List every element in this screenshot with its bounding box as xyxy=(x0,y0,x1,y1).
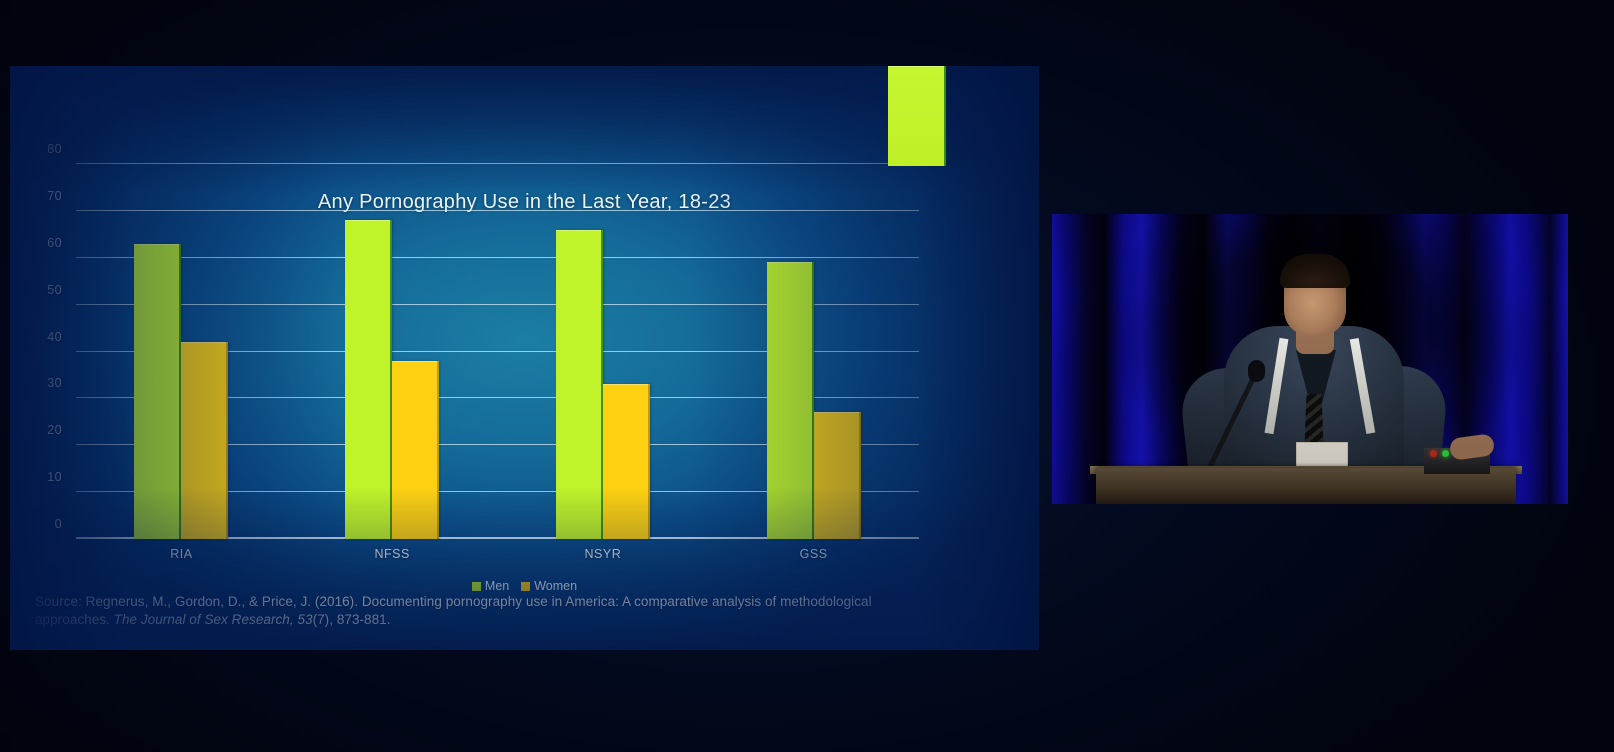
y-axis-tick-label: 50 xyxy=(2,283,76,297)
legend-swatch-women xyxy=(521,582,530,591)
x-axis-label-nsyr: NSYR xyxy=(498,547,709,561)
x-axis-label-nfss: NFSS xyxy=(287,547,498,561)
bar-group: RIA xyxy=(76,164,287,539)
bar-nsyr-women xyxy=(603,384,650,539)
bar-gss-men xyxy=(767,262,814,539)
legend-item-men: Men xyxy=(472,579,509,593)
bar-nfss-men xyxy=(345,220,392,539)
presentation-stage: Any Pornography Use in the Last Year, 18… xyxy=(0,0,1614,752)
projected-slide: Any Pornography Use in the Last Year, 18… xyxy=(10,66,1039,650)
bar-ria-women xyxy=(181,342,228,539)
green-led-indicator xyxy=(1442,450,1449,457)
legend-swatch-men xyxy=(472,582,481,591)
overflow-bar-artifact xyxy=(888,66,946,166)
legend-label: Men xyxy=(485,579,509,593)
source-citation: Source: Regnerus, M., Gordon, D., & Pric… xyxy=(35,593,915,629)
speaker-video-feed xyxy=(1052,214,1568,504)
bar-group: NSYR xyxy=(498,164,709,539)
y-axis-tick-label: 60 xyxy=(2,236,76,250)
bar-gss-women xyxy=(814,412,861,539)
legend-label: Women xyxy=(534,579,577,593)
x-axis-label-gss: GSS xyxy=(708,547,919,561)
chart-legend: MenWomen xyxy=(10,579,1039,593)
chart-bars: RIANFSSNSYRGSS xyxy=(76,164,919,539)
bar-group: GSS xyxy=(708,164,919,539)
bar-nsyr-men xyxy=(556,230,603,539)
speaker-hair xyxy=(1280,254,1350,288)
microphone-icon xyxy=(1248,360,1265,382)
y-axis-tick-label: 30 xyxy=(2,376,76,390)
source-journal-title: The Journal of Sex Research, 53 xyxy=(114,612,313,627)
source-line-1: Source: Regnerus, M., Gordon, D., & Pric… xyxy=(35,594,776,609)
bar-group: NFSS xyxy=(287,164,498,539)
y-axis-tick-label: 70 xyxy=(2,189,76,203)
y-axis-tick-label: 40 xyxy=(2,330,76,344)
source-line-2-suffix: (7), 873-881. xyxy=(313,612,391,627)
y-axis-tick-label: 20 xyxy=(2,423,76,437)
bar-nfss-women xyxy=(392,361,439,539)
y-axis-tick-label: 0 xyxy=(2,517,76,531)
legend-item-women: Women xyxy=(521,579,577,593)
chart-plot-area: 01020304050607080 RIANFSSNSYRGSS xyxy=(76,164,919,539)
x-axis-label-ria: RIA xyxy=(76,547,287,561)
red-led-indicator xyxy=(1430,450,1437,457)
y-axis-tick-label: 10 xyxy=(2,470,76,484)
y-axis-tick-label: 80 xyxy=(2,142,76,156)
bar-ria-men xyxy=(134,244,181,539)
